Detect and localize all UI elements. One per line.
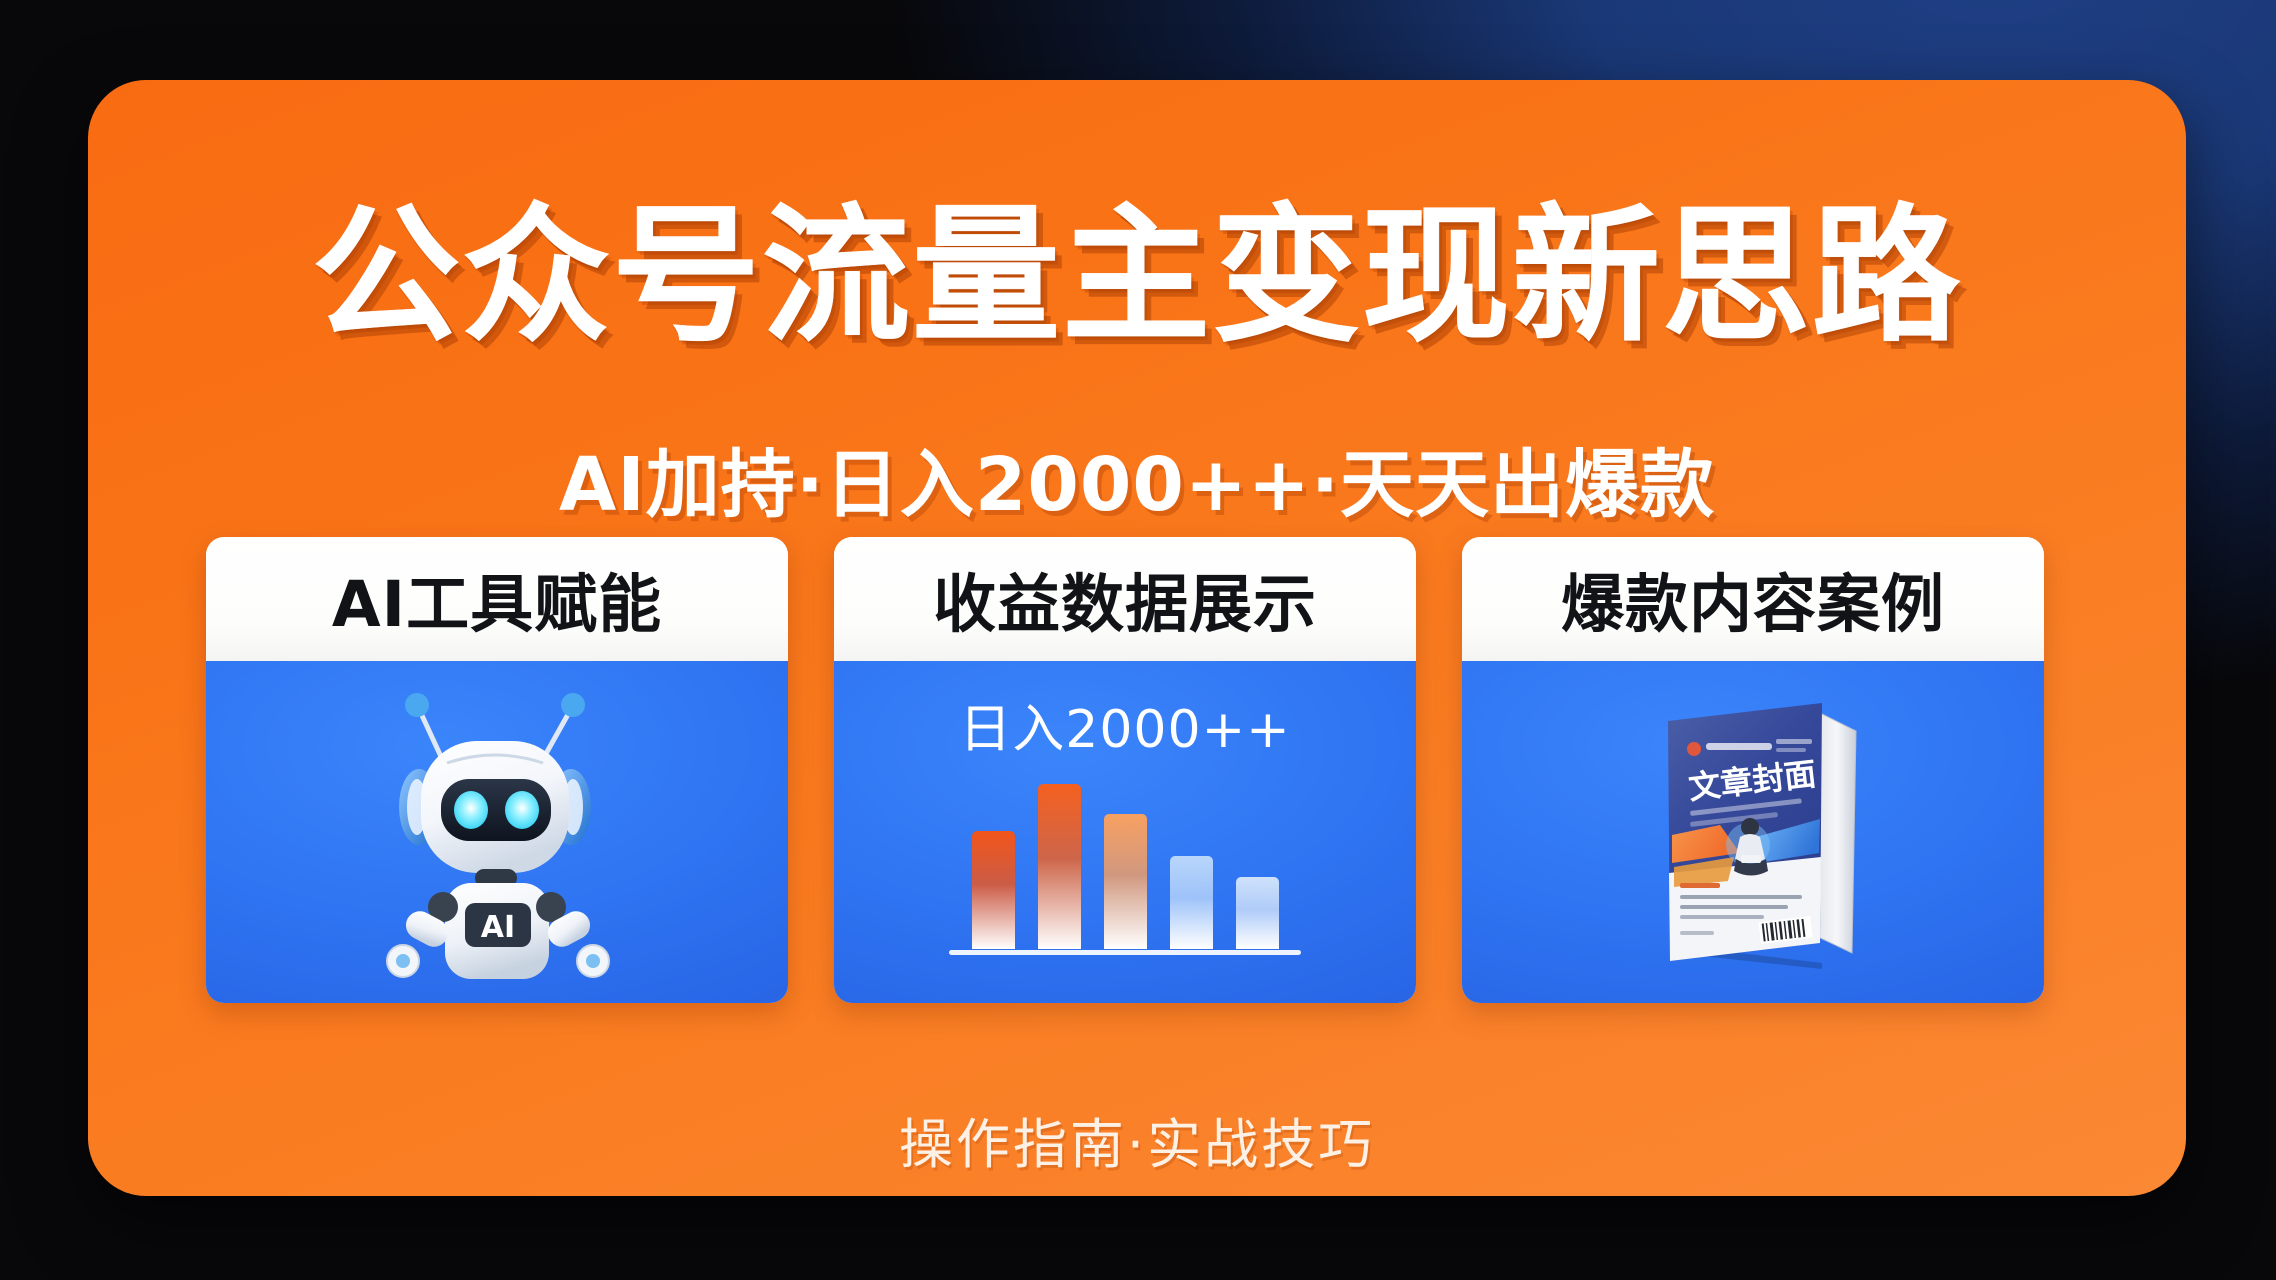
robot-mascot-icon: AI: [347, 679, 647, 999]
card-title: 爆款内容案例: [1561, 554, 1945, 645]
chart-bars: [955, 753, 1295, 949]
feature-card-viral-content[interactable]: 爆款内容案例: [1462, 537, 2044, 1003]
card-media: AI: [206, 661, 788, 1003]
card-header: 收益数据展示: [834, 537, 1416, 661]
robot-ai-badge-label: AI: [481, 910, 515, 945]
chart-bar: [1038, 784, 1081, 949]
card-title: 收益数据展示: [933, 554, 1317, 645]
poster-canvas: 公众号流量主变现新思路 AI加持·日入2000++·天天出爆款 AI工具赋能: [0, 0, 2276, 1280]
book-mockup-icon: 文章封面: [1608, 677, 1898, 987]
feature-card-revenue[interactable]: 收益数据展示 日入2000++: [834, 537, 1416, 1003]
chart-baseline-axis: [949, 950, 1301, 955]
chart-bar: [1170, 856, 1213, 949]
footer-caption: 操作指南·实战技巧: [88, 1100, 2186, 1179]
card-media: 日入2000++: [834, 661, 1416, 1003]
chart-bar: [972, 831, 1015, 949]
card-title: AI工具赋能: [332, 554, 662, 645]
revenue-metric-label: 日入2000++: [834, 687, 1416, 762]
feature-card-row: AI工具赋能: [206, 537, 2046, 1003]
feature-card-ai-tools[interactable]: AI工具赋能: [206, 537, 788, 1003]
chart-bar: [1236, 877, 1279, 949]
page-subtitle: AI加持·日入2000++·天天出爆款: [88, 425, 2186, 532]
revenue-bar-chart: [955, 755, 1295, 955]
card-media: 文章封面: [1462, 661, 2044, 1003]
chart-bar: [1104, 814, 1147, 949]
card-header: 爆款内容案例: [1462, 537, 2044, 661]
page-title: 公众号流量主变现新思路: [88, 202, 2186, 350]
card-header: AI工具赋能: [206, 537, 788, 661]
orange-panel: 公众号流量主变现新思路 AI加持·日入2000++·天天出爆款 AI工具赋能: [88, 80, 2186, 1196]
